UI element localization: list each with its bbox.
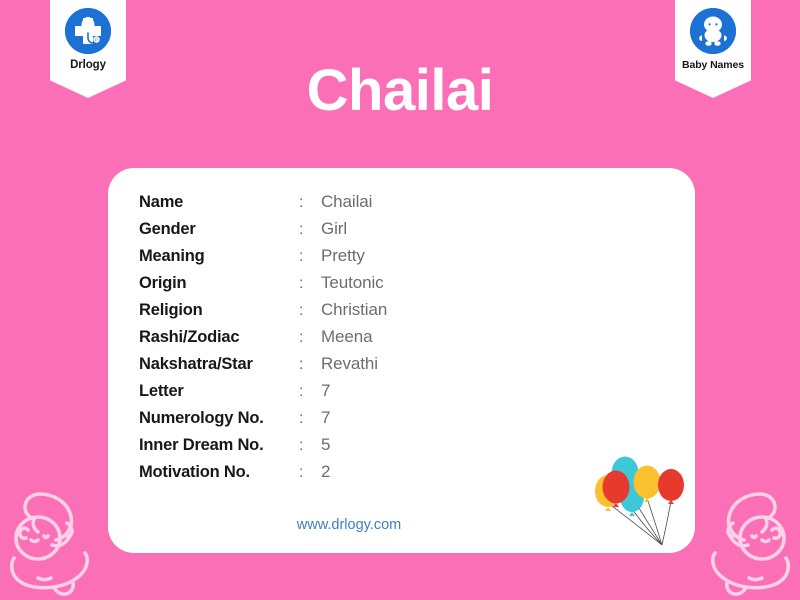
table-row: Letter : 7: [139, 381, 387, 408]
baby-icon: [690, 8, 736, 54]
row-separator: :: [299, 437, 321, 455]
table-row: Religion : Christian: [139, 300, 387, 327]
table-row: Origin : Teutonic: [139, 273, 387, 300]
row-separator: :: [299, 329, 321, 347]
row-value: Teutonic: [321, 273, 384, 293]
row-separator: :: [299, 383, 321, 401]
row-separator: :: [299, 221, 321, 239]
svg-text:P: P: [95, 37, 98, 42]
doctor-medical-cross-icon: P: [65, 8, 111, 54]
row-label: Origin: [139, 274, 299, 293]
row-label: Religion: [139, 301, 299, 320]
mother-and-baby-icon: [0, 470, 110, 600]
row-value: Christian: [321, 300, 387, 320]
row-value: 7: [321, 408, 330, 428]
row-value: Chailai: [321, 192, 372, 212]
row-value: Girl: [321, 219, 347, 239]
table-row: Numerology No. : 7: [139, 408, 387, 435]
row-separator: :: [299, 464, 321, 482]
table-row: Name : Chailai: [139, 192, 387, 219]
row-value: 5: [321, 435, 330, 455]
row-separator: :: [299, 275, 321, 293]
row-label: Motivation No.: [139, 463, 299, 482]
row-label: Numerology No.: [139, 409, 299, 428]
row-label: Meaning: [139, 247, 299, 266]
name-details-table: Name : Chailai Gender : Girl Meaning : P…: [139, 192, 387, 489]
table-row: Meaning : Pretty: [139, 246, 387, 273]
table-row: Rashi/Zodiac : Meena: [139, 327, 387, 354]
row-value: Meena: [321, 327, 372, 347]
row-separator: :: [299, 356, 321, 374]
row-value: Pretty: [321, 246, 365, 266]
row-separator: :: [299, 248, 321, 266]
row-separator: :: [299, 194, 321, 212]
row-separator: :: [299, 410, 321, 428]
row-label: Gender: [139, 220, 299, 239]
table-row: Inner Dream No. : 5: [139, 435, 387, 462]
balloons-icon: [585, 445, 695, 553]
row-label: Name: [139, 193, 299, 212]
row-value: 2: [321, 462, 330, 482]
mother-and-baby-icon: [690, 470, 800, 600]
row-label: Letter: [139, 382, 299, 401]
name-info-card: Name : Chailai Gender : Girl Meaning : P…: [108, 168, 695, 553]
page-title: Chailai: [0, 62, 800, 120]
row-value: Revathi: [321, 354, 378, 374]
table-row: Motivation No. : 2: [139, 462, 387, 489]
row-label: Nakshatra/Star: [139, 355, 299, 374]
row-separator: :: [299, 302, 321, 320]
table-row: Nakshatra/Star : Revathi: [139, 354, 387, 381]
row-label: Inner Dream No.: [139, 436, 299, 455]
table-row: Gender : Girl: [139, 219, 387, 246]
row-value: 7: [321, 381, 330, 401]
row-label: Rashi/Zodiac: [139, 328, 299, 347]
website-url[interactable]: www.drlogy.com: [108, 517, 695, 533]
